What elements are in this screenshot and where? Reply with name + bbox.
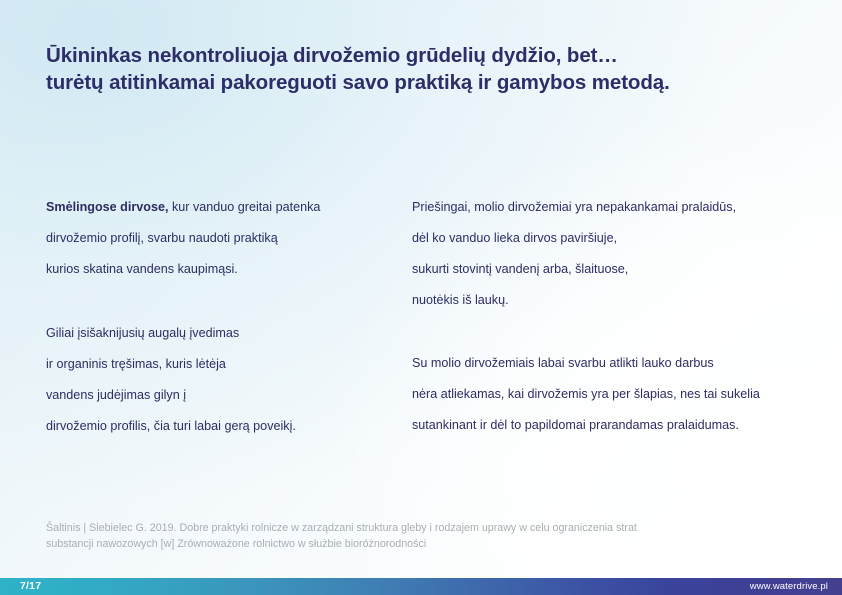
source-citation-line-2: substancji nawozowych [w] Zrównoważone r… [46, 537, 746, 553]
paragraph-left-1-line-2: dirvožemio profilį, svarbu naudoti prakt… [46, 223, 406, 254]
source-citation-line-1: Šaltinis | Siebielec G. 2019. Dobre prak… [46, 521, 746, 537]
paragraph-left-1-line-1-rest: kur vanduo greitai patenka [168, 200, 320, 214]
source-citation: Šaltinis | Siebielec G. 2019. Dobre prak… [46, 521, 746, 552]
slide: Ūkininkas nekontroliuoja dirvožemio grūd… [0, 0, 842, 595]
paragraph-right-1-line-3: sukurti stovintį vandenį arba, šlaituose… [412, 254, 806, 285]
slide-content: Ūkininkas nekontroliuoja dirvožemio grūd… [0, 0, 842, 595]
paragraph-left-2: Giliai įsišaknijusių augalų įvedimas ir … [46, 318, 406, 442]
page-number: 7/17 [20, 578, 41, 595]
website-url[interactable]: www.waterdrive.pl [750, 578, 828, 595]
paragraph-left-1-lead: Smėlingose dirvose, [46, 200, 168, 214]
paragraph-right-1: Priešingai, molio dirvožemiai yra nepaka… [412, 192, 806, 316]
page-title-line-1: Ūkininkas nekontroliuoja dirvožemio grūd… [46, 42, 786, 69]
column-left: Smėlingose dirvose, kur vanduo greitai p… [46, 192, 406, 442]
paragraph-left-1-line-3: kurios skatina vandens kaupimąsi. [46, 254, 406, 285]
page-title-line-2: turėtų atitinkamai pakoreguoti savo prak… [46, 69, 786, 96]
paragraph-right-2: Su molio dirvožemiais labai svarbu atlik… [412, 348, 806, 441]
paragraph-right-2-line-2: nėra atliekamas, kai dirvožemis yra per … [412, 379, 806, 410]
page-title: Ūkininkas nekontroliuoja dirvožemio grūd… [46, 42, 786, 96]
paragraph-right-1-line-1: Priešingai, molio dirvožemiai yra nepaka… [412, 192, 806, 223]
paragraph-left-2-line-3: vandens judėjimas gilyn į [46, 380, 406, 411]
paragraph-right-1-line-4: nuotėkis iš laukų. [412, 285, 806, 316]
paragraph-right-1-line-2: dėl ko vanduo lieka dirvos paviršiuje, [412, 223, 806, 254]
paragraph-right-2-line-1: Su molio dirvožemiais labai svarbu atlik… [412, 348, 806, 379]
paragraph-left-1: Smėlingose dirvose, kur vanduo greitai p… [46, 192, 406, 285]
column-right: Priešingai, molio dirvožemiai yra nepaka… [412, 192, 806, 441]
paragraph-left-2-line-2: ir organinis tręšimas, kuris lėtėja [46, 349, 406, 380]
paragraph-left-2-line-4: dirvožemio profilis, čia turi labai gerą… [46, 411, 406, 442]
paragraph-left-1-line-1: Smėlingose dirvose, kur vanduo greitai p… [46, 192, 406, 223]
footer-bar: 7/17 www.waterdrive.pl [0, 578, 842, 595]
paragraph-left-2-line-1: Giliai įsišaknijusių augalų įvedimas [46, 318, 406, 349]
paragraph-right-2-line-3: sutankinant ir dėl to papildomai prarand… [412, 410, 806, 441]
